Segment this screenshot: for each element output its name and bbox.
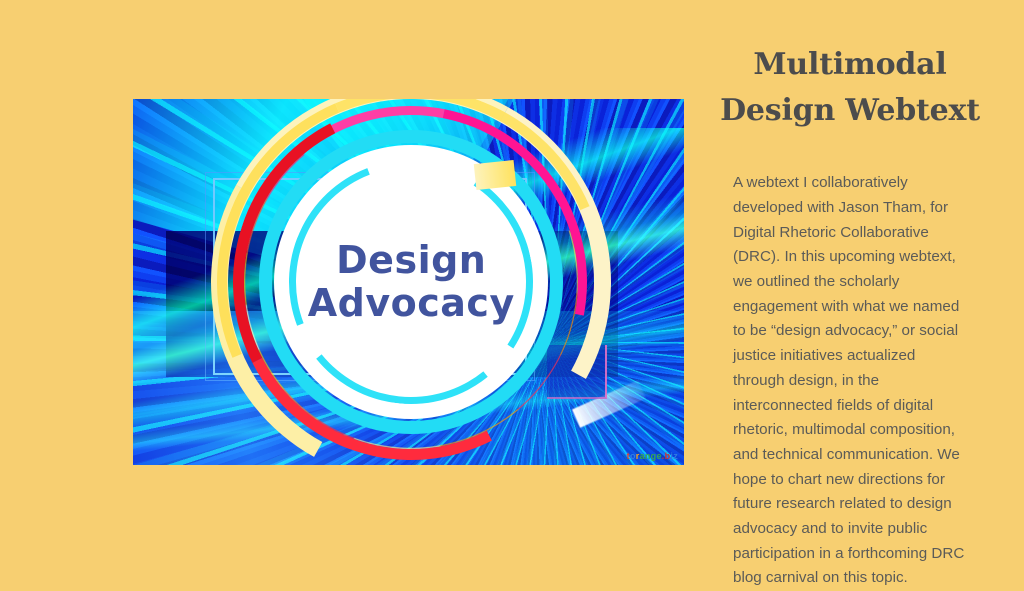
body-paragraph: A webtext I collaboratively developed wi… (733, 171, 969, 591)
page-title: Multimodal Design Webtext (700, 42, 1000, 133)
slide-canvas: Design Advocacy torange.biz Multimodal D… (0, 0, 1024, 576)
concentric-ring-graphic: Design Advocacy (211, 99, 611, 465)
text-column: Multimodal Design Webtext A webtext I co… (700, 42, 1000, 591)
artwork-image: Design Advocacy torange.biz (133, 99, 684, 465)
watermark-logo: torange.biz (627, 451, 678, 461)
glitch-square-top (474, 160, 516, 190)
watermark-part-4: ange (640, 451, 662, 461)
watermark-part-6: iz (670, 451, 678, 461)
